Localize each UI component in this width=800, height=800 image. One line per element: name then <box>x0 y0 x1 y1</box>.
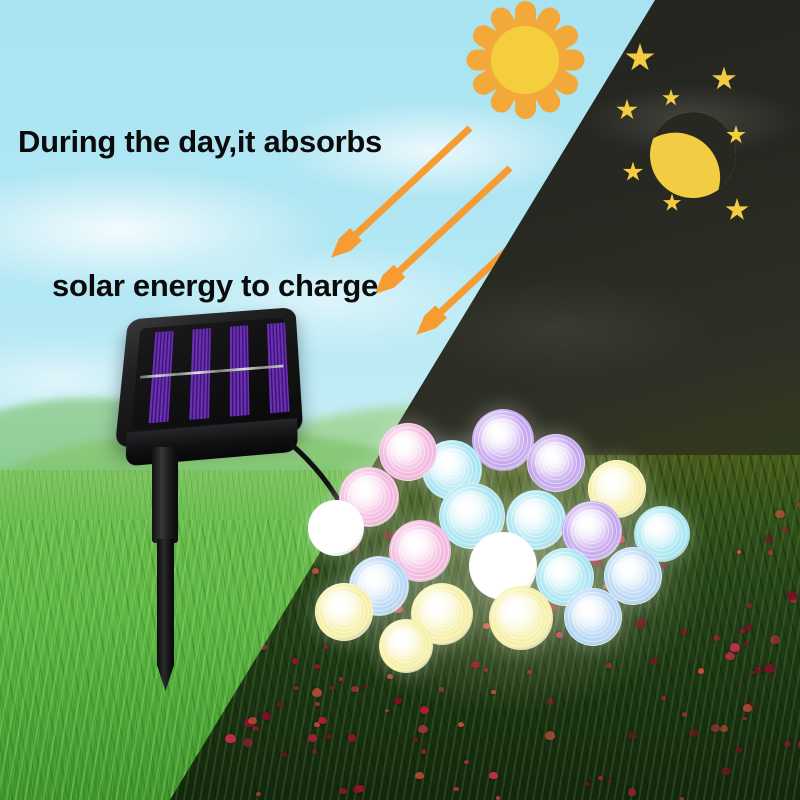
sun-core <box>491 26 559 94</box>
footer-line-1: Lighting for more than 7 <box>0 796 800 800</box>
headline-text: During the day,it absorbs solar energy t… <box>18 22 382 406</box>
light-globe <box>315 583 373 641</box>
headline-line-2: solar energy to charge <box>18 262 382 310</box>
light-globe <box>308 500 364 556</box>
light-globe <box>489 586 553 650</box>
light-globe <box>379 619 433 673</box>
light-globe <box>564 588 622 646</box>
light-globe <box>379 423 437 481</box>
headline-line-1: During the day,it absorbs <box>18 118 382 166</box>
footer-text: Lighting for more than 7 hours atnight n… <box>0 694 800 800</box>
light-globe <box>472 409 534 471</box>
infographic-canvas: During the day,it absorbs solar energy t… <box>0 0 800 800</box>
light-globe <box>527 434 585 492</box>
